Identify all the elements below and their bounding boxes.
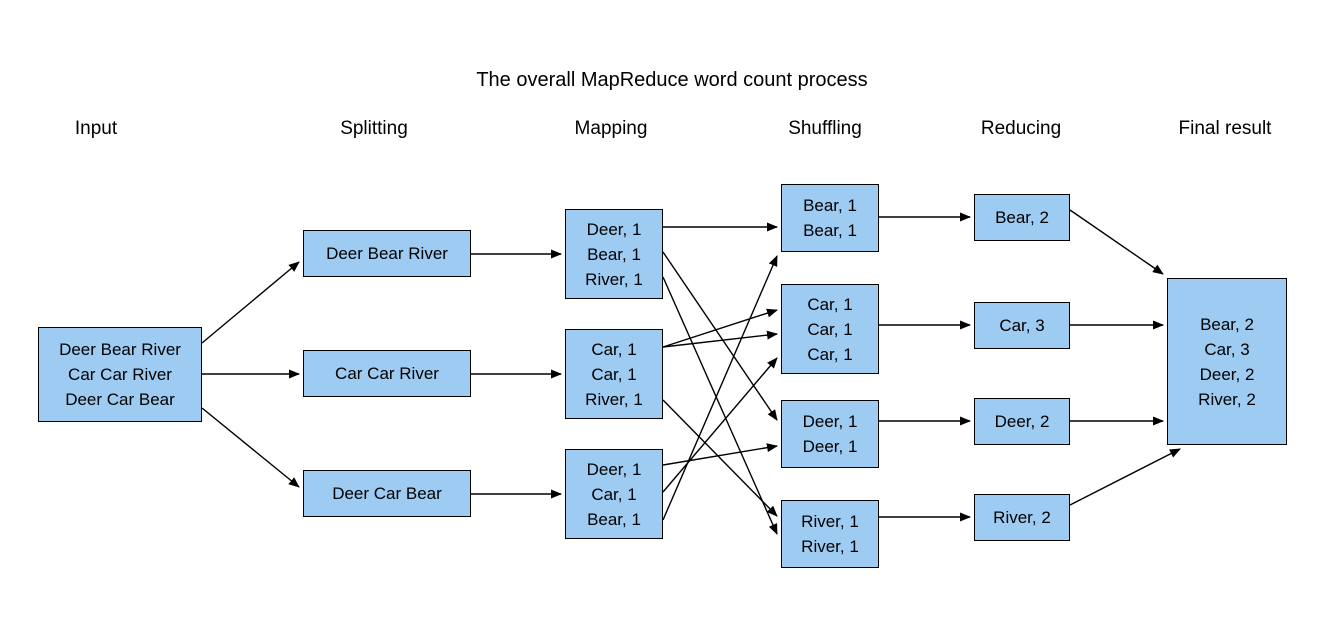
node-line: Car Car River [335,361,439,386]
node-line: Car Car River [68,362,172,387]
node-box-reduce-1[interactable]: Car, 3 [974,302,1070,349]
node-line: River, 2 [1198,387,1256,412]
node-line: River, 1 [801,534,859,559]
node-line: Car, 1 [807,342,852,367]
node-line: Deer, 1 [587,217,642,242]
node-line: Car, 3 [1204,337,1249,362]
node-line: Deer Bear River [326,241,448,266]
node-line: Bear, 1 [803,218,857,243]
node-box-shuffle-2[interactable]: Deer, 1Deer, 1 [781,400,879,468]
node-line: Deer, 2 [995,409,1050,434]
mapreduce-diagram: The overall MapReduce word count process… [0,0,1344,624]
node-line: Deer, 1 [803,409,858,434]
node-line: Car, 1 [807,292,852,317]
node-line: River, 1 [585,267,643,292]
node-line: River, 1 [585,387,643,412]
node-box-reduce-2[interactable]: Deer, 2 [974,398,1070,445]
node-line: Deer, 1 [803,434,858,459]
node-line: Deer, 2 [1200,362,1255,387]
node-box-input-0[interactable]: Deer Bear RiverCar Car RiverDeer Car Bea… [38,327,202,422]
stage-label-map: Mapping [575,118,648,140]
stage-label-input: Input [75,118,117,140]
node-line: River, 1 [801,509,859,534]
stage-label-shuffle: Shuffling [788,118,862,140]
node-box-shuffle-0[interactable]: Bear, 1Bear, 1 [781,184,879,252]
node-box-shuffle-3[interactable]: River, 1River, 1 [781,500,879,568]
node-layer: InputSplittingMappingShufflingReducingFi… [0,0,1344,624]
node-line: Deer Car Bear [65,387,175,412]
stage-label-final: Final result [1179,118,1272,140]
node-line: Car, 1 [807,317,852,342]
node-box-map-1[interactable]: Car, 1Car, 1River, 1 [565,329,663,419]
node-line: River, 2 [993,505,1051,530]
node-line: Car, 1 [591,337,636,362]
node-box-split-0[interactable]: Deer Bear River [303,230,471,277]
node-box-split-1[interactable]: Car Car River [303,350,471,397]
node-line: Car, 1 [591,362,636,387]
node-line: Deer, 1 [587,457,642,482]
stage-label-reduce: Reducing [981,118,1061,140]
node-line: Bear, 1 [803,193,857,218]
node-line: Bear, 1 [587,242,641,267]
node-box-final-0[interactable]: Bear, 2Car, 3Deer, 2River, 2 [1167,278,1287,445]
node-box-split-2[interactable]: Deer Car Bear [303,470,471,517]
node-box-map-2[interactable]: Deer, 1Car, 1Bear, 1 [565,449,663,539]
node-line: Deer Bear River [59,337,181,362]
node-line: Bear, 2 [995,205,1049,230]
node-box-reduce-3[interactable]: River, 2 [974,494,1070,541]
node-line: Car, 3 [999,313,1044,338]
node-line: Deer Car Bear [332,481,442,506]
node-box-shuffle-1[interactable]: Car, 1Car, 1Car, 1 [781,284,879,374]
node-line: Car, 1 [591,482,636,507]
stage-label-split: Splitting [340,118,408,140]
node-line: Bear, 1 [587,507,641,532]
node-box-reduce-0[interactable]: Bear, 2 [974,194,1070,241]
node-line: Bear, 2 [1200,312,1254,337]
node-box-map-0[interactable]: Deer, 1Bear, 1River, 1 [565,209,663,299]
